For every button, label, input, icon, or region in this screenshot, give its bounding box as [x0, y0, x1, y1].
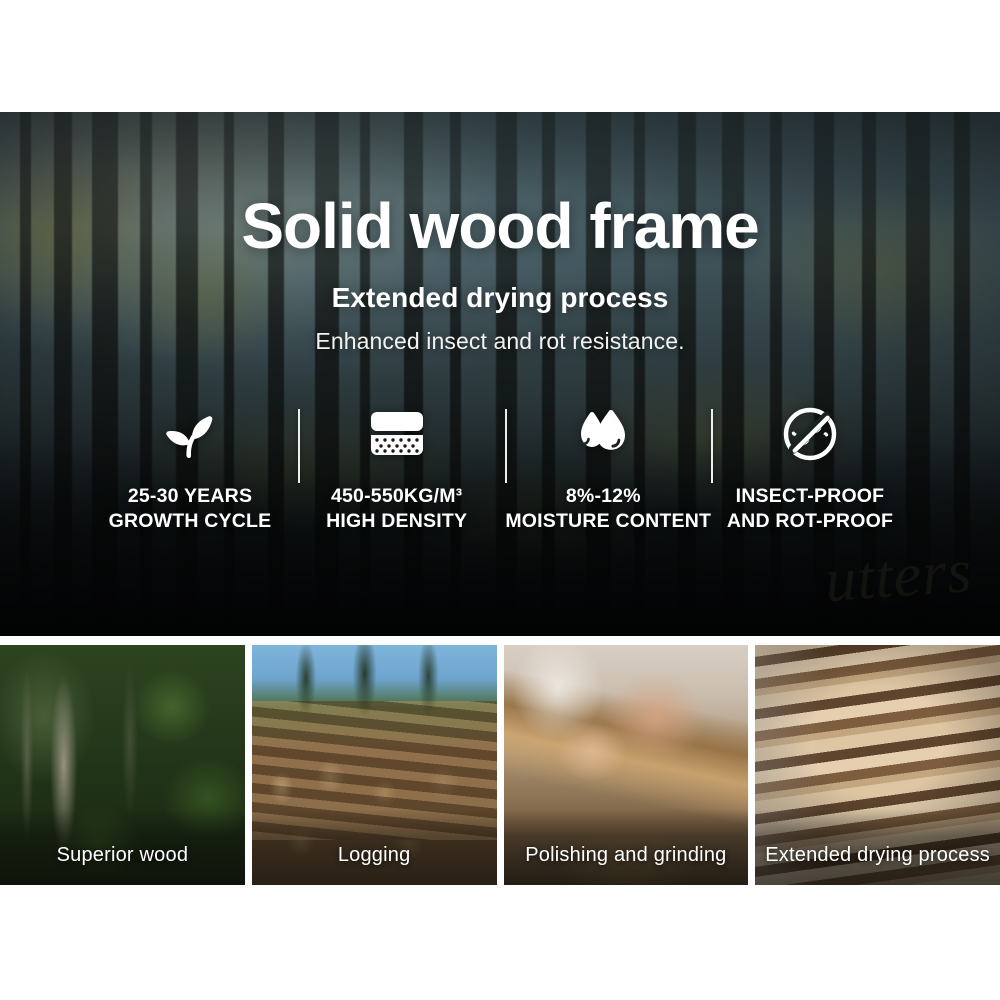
feature-high-density: 450-550KG/M³ HIGH DENSITY	[299, 400, 495, 534]
no-insect-icon	[712, 400, 908, 462]
gallery-tile-polishing[interactable]: Polishing and grinding	[504, 645, 749, 885]
hero-subtitle: Extended drying process	[0, 282, 1000, 314]
feature-label-line2: GROWTH CYCLE	[92, 509, 288, 534]
feature-list: 25-30 YEARS GROWTH CYCLE	[92, 400, 908, 534]
watermark-text: utters	[822, 536, 974, 617]
water-droplets-icon	[505, 400, 701, 462]
feature-label-line1: 8%-12%	[505, 484, 701, 509]
gallery-caption: Extended drying process	[755, 844, 1000, 867]
hero-title: Solid wood frame	[0, 194, 1000, 258]
hero-banner: utters Solid wood frame Extended drying …	[0, 112, 1000, 636]
feature-label: 450-550KG/M³ HIGH DENSITY	[299, 484, 495, 534]
gallery-tile-superior-wood[interactable]: Superior wood	[0, 645, 245, 885]
gallery-caption: Polishing and grinding	[504, 844, 749, 867]
feature-label-line2: MOISTURE CONTENT	[505, 509, 701, 534]
process-gallery: Superior wood Logging Polishing and grin…	[0, 645, 1000, 885]
feature-label-line1: INSECT-PROOF	[712, 484, 908, 509]
gallery-tile-drying[interactable]: Extended drying process	[755, 645, 1000, 885]
feature-label-line2: HIGH DENSITY	[299, 509, 495, 534]
feature-insect-rot-proof: INSECT-PROOF AND ROT-PROOF	[712, 400, 908, 534]
feature-label: INSECT-PROOF AND ROT-PROOF	[712, 484, 908, 534]
hero-tagline: Enhanced insect and rot resistance.	[0, 328, 1000, 355]
feature-label: 8%-12% MOISTURE CONTENT	[505, 484, 701, 534]
gallery-caption: Logging	[252, 844, 497, 867]
feature-label-line2: AND ROT-PROOF	[712, 509, 908, 534]
feature-label-line1: 25-30 YEARS	[92, 484, 288, 509]
mattress-density-icon	[299, 400, 495, 462]
gallery-tile-logging[interactable]: Logging	[252, 645, 497, 885]
feature-growth-cycle: 25-30 YEARS GROWTH CYCLE	[92, 400, 288, 534]
hero-text-block: Solid wood frame Extended drying process…	[0, 194, 1000, 355]
infographic-page: utters Solid wood frame Extended drying …	[0, 0, 1000, 1000]
sprout-leaf-icon	[92, 400, 288, 462]
feature-label-line1: 450-550KG/M³	[299, 484, 495, 509]
feature-moisture-content: 8%-12% MOISTURE CONTENT	[505, 400, 701, 534]
gallery-caption: Superior wood	[0, 844, 245, 867]
feature-label: 25-30 YEARS GROWTH CYCLE	[92, 484, 288, 534]
